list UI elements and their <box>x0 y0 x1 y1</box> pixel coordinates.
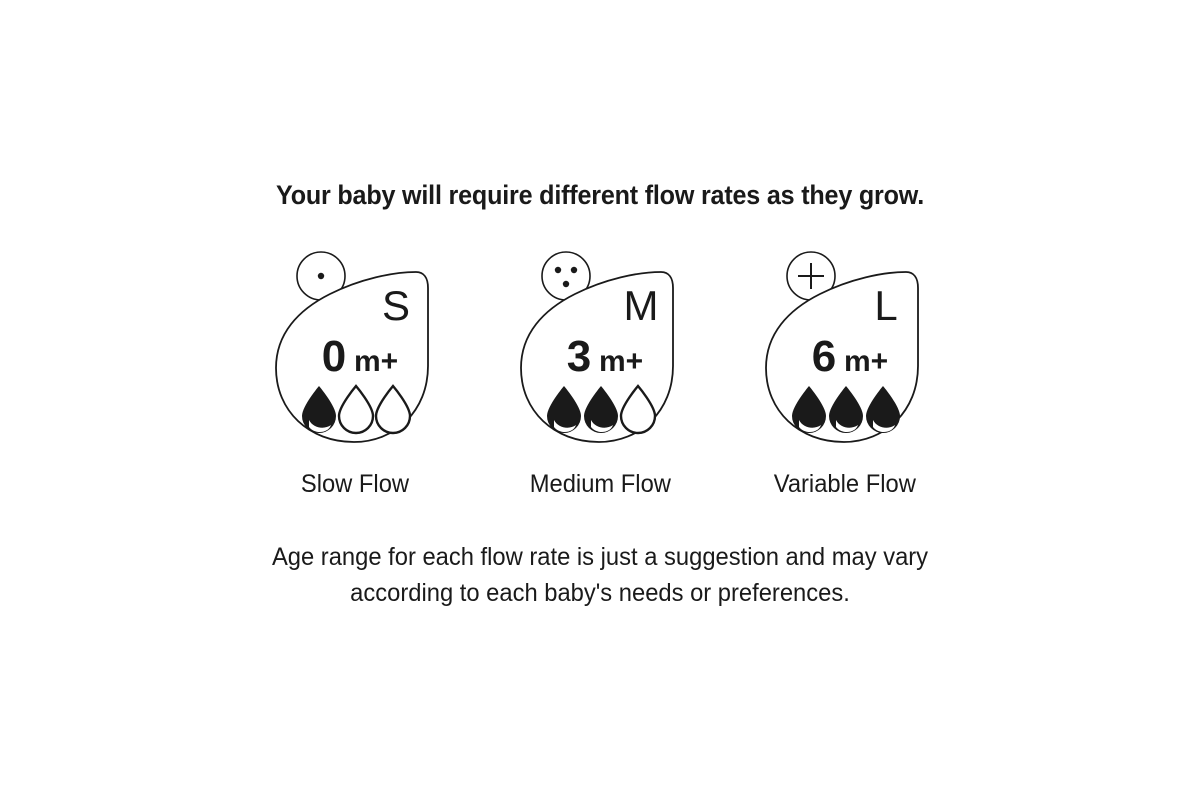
droplet-meter <box>792 386 900 433</box>
flow-card-row: S 0 m+ <box>0 248 1200 499</box>
size-letter: M <box>623 282 658 329</box>
flow-card-slow: S 0 m+ <box>268 248 443 499</box>
age-number: 0 <box>321 332 345 381</box>
age-suffix: m+ <box>354 345 398 378</box>
footnote: Age range for each flow rate is just a s… <box>30 540 1170 611</box>
flow-rate-infographic: Your baby will require different flow ra… <box>0 0 1200 800</box>
footnote-line-1: Age range for each flow rate is just a s… <box>30 540 1170 576</box>
age-suffix: m+ <box>599 345 643 378</box>
nipple-graphic-variable: L 6 m+ <box>758 248 933 453</box>
droplet-meter <box>302 386 410 433</box>
flow-label-variable: Variable Flow <box>774 471 916 499</box>
size-letter: L <box>874 282 897 329</box>
droplet-meter <box>547 386 655 433</box>
size-letter: S <box>381 282 409 329</box>
flow-label-medium: Medium Flow <box>529 471 670 499</box>
footnote-line-2: according to each baby's needs or prefer… <box>30 576 1170 612</box>
page-title: Your baby will require different flow ra… <box>42 180 1158 211</box>
age-number: 6 <box>811 332 835 381</box>
nipple-graphic-slow: S 0 m+ <box>268 248 443 453</box>
flow-card-variable: L 6 m+ <box>758 248 933 499</box>
age-number: 3 <box>566 332 590 381</box>
flow-label-slow: Slow Flow <box>301 471 409 499</box>
nipple-graphic-medium: M 3 m+ <box>513 248 688 453</box>
age-suffix: m+ <box>844 345 888 378</box>
flow-card-medium: M 3 m+ <box>513 248 688 499</box>
